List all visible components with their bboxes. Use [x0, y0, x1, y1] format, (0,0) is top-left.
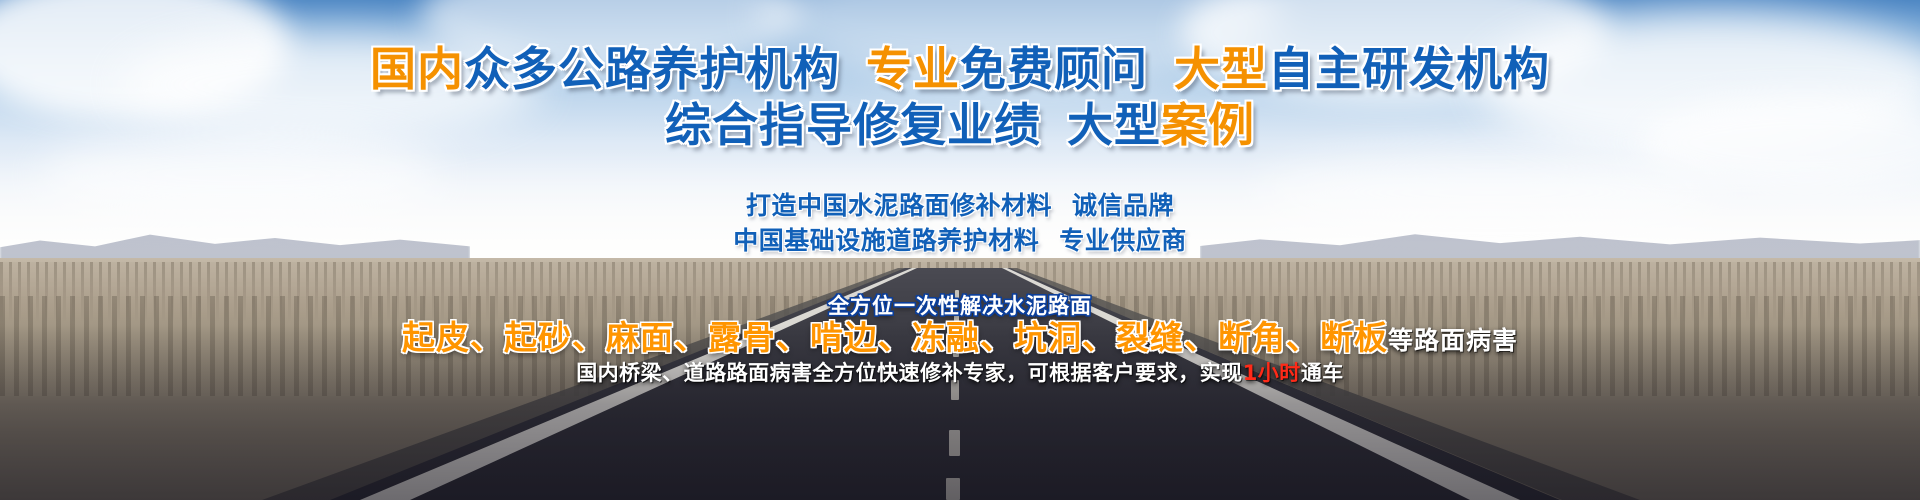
- lane-dash: [946, 478, 960, 500]
- headline2-segment-orange-1: 案例: [1161, 98, 1255, 152]
- footer-claim-part1: 国内桥梁、道路路面病害全方位快速修补专家，可根据客户要求，实现: [576, 361, 1243, 385]
- headline1-segment-orange-2: 专业: [866, 42, 960, 96]
- subtitle1-tag: 诚信品牌: [1072, 191, 1174, 220]
- headline-line-2: 综合指导修复业绩大型案例: [0, 98, 1920, 152]
- headline2-segment-blue-1: 综合指导修复业绩: [665, 98, 1041, 152]
- footer-claim-highlight: 1小时: [1243, 361, 1301, 385]
- promo-banner: 国内众多公路养护机构专业免费顾问大型自主研发机构 综合指导修复业绩大型案例 打造…: [0, 0, 1920, 500]
- footer-claim: 国内桥梁、道路路面病害全方位快速修补专家，可根据客户要求，实现1小时通车: [0, 360, 1920, 386]
- damage-list-items: 起皮、起砂、麻面、露骨、啃边、冻融、坑洞、裂缝、断角、断板: [402, 318, 1388, 357]
- subtitle2-tag: 专业供应商: [1059, 226, 1187, 255]
- headline2-segment-blue-2: 大型: [1067, 98, 1161, 152]
- subtitle1-main: 打造中国水泥路面修补材料: [746, 191, 1052, 220]
- headline1-segment-orange-1: 国内: [370, 42, 464, 96]
- lane-dash: [949, 430, 960, 456]
- headline1-segment-blue-1: 众多公路养护机构: [464, 42, 840, 96]
- headline-line-1: 国内众多公路养护机构专业免费顾问大型自主研发机构: [0, 42, 1920, 96]
- headline1-segment-blue-2: 免费顾问: [960, 42, 1148, 96]
- footer-claim-part2: 通车: [1301, 361, 1344, 385]
- subtitle2-main: 中国基础设施道路养护材料: [733, 226, 1039, 255]
- damage-list-suffix: 等路面病害: [1388, 326, 1518, 355]
- subtitle-line-2: 中国基础设施道路养护材料专业供应商: [0, 226, 1920, 256]
- bottom-tagline: 全方位一次性解决水泥路面: [0, 294, 1920, 319]
- damage-type-list: 起皮、起砂、麻面、露骨、啃边、冻融、坑洞、裂缝、断角、断板等路面病害: [0, 318, 1920, 361]
- subtitle-line-1: 打造中国水泥路面修补材料诚信品牌: [0, 191, 1920, 221]
- headline1-segment-blue-3: 自主研发机构: [1268, 42, 1550, 96]
- headline1-segment-orange-3: 大型: [1174, 42, 1268, 96]
